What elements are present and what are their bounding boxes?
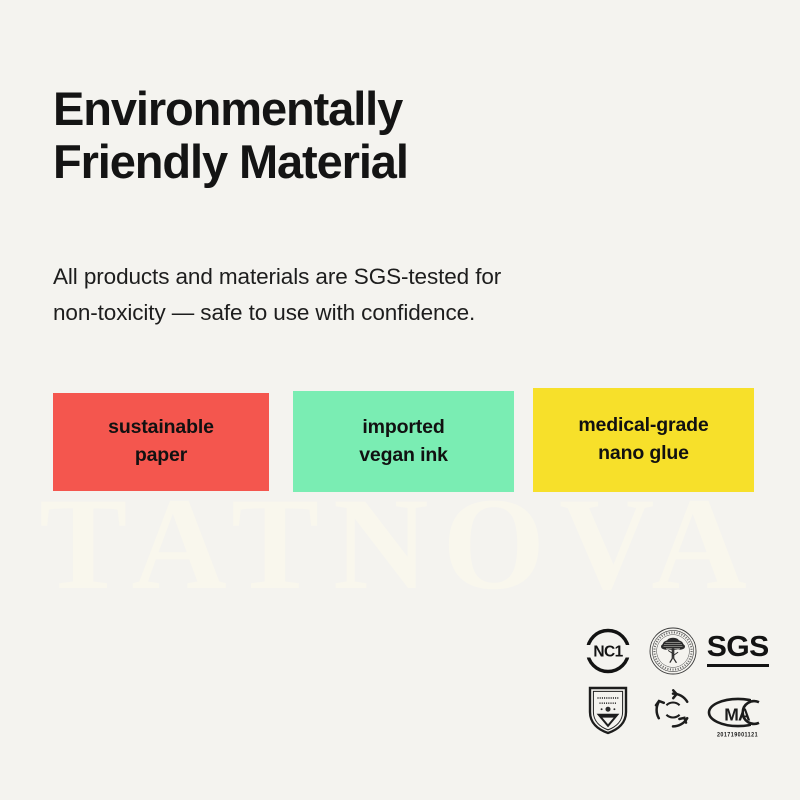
svg-text:NC1: NC1 [593,643,623,660]
certification-badge-row-2: MA 201719001121 [575,681,780,738]
recycling-arrows-icon [640,681,705,738]
chip-label-line-2: vegan ink [359,442,448,470]
fsc-tree-seal-icon [640,622,705,679]
chip-label-line-1: imported [362,414,444,442]
page-subtitle-line-2: non-toxicity — safe to use with confiden… [53,295,673,331]
shield-chevron-badge-icon [575,681,640,738]
material-chip-sustainable-paper: sustainable paper [53,393,269,491]
page-subtitle: All products and materials are SGS-teste… [53,259,673,332]
material-chip-imported-vegan-ink: imported vegan ink [293,391,514,492]
cma-certificate-number: 201719001121 [717,731,758,739]
svg-text:MA: MA [724,704,751,724]
page-title: Environmentally Friendly Material [53,83,693,188]
certification-badge-row-1: NC1 [575,622,780,679]
material-chip-group: sustainable paper imported vegan ink med… [53,388,753,498]
material-chip-medical-grade-nano-glue: medical-grade nano glue [533,388,754,492]
page-title-line-2: Friendly Material [53,136,693,189]
page-subtitle-line-1: All products and materials are SGS-teste… [53,259,673,295]
sgs-wordmark-text: SGS [707,634,769,662]
chip-label-line-1: medical-grade [578,412,708,440]
page-title-line-1: Environmentally [53,83,693,136]
promo-card: TATNOVA Environmentally Friendly Materia… [0,0,800,800]
sgs-underline-bar [707,664,769,667]
chip-label-line-2: paper [135,442,187,470]
chip-label-line-1: sustainable [108,414,214,442]
nc1-circle-badge-icon: NC1 [575,622,640,679]
cma-oval-badge-icon: MA 201719001121 [705,681,770,738]
certification-badges: NC1 [575,622,780,738]
sgs-wordmark-icon: SGS [705,622,770,679]
chip-label-line-2: nano glue [598,440,689,468]
